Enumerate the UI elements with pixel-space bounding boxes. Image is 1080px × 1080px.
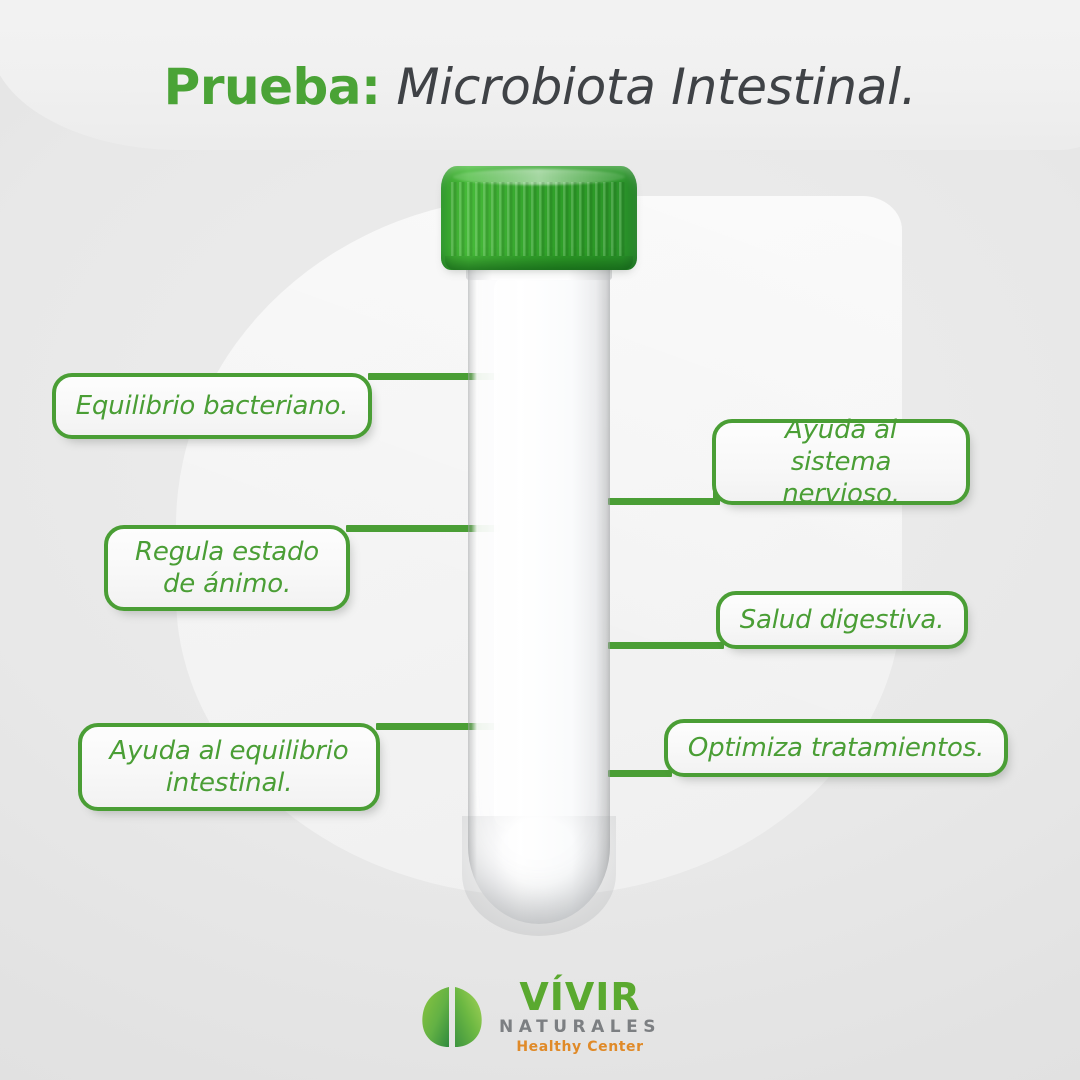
leaf-logo-icon [419,981,485,1051]
infographic-poster: Prueba: Microbiota Intestinal. Equilibri… [0,0,1080,1080]
callout-equilibrio-bacteriano: Equilibrio bacteriano. [52,373,372,439]
logo-brand-name: VÍVIR [519,978,640,1016]
logo-subbrand: NATURALES [499,1019,661,1036]
page-title: Prueba: Microbiota Intestinal. [0,60,1080,115]
cap-ribbing [451,182,627,256]
callout-ayuda-equilibrio-intestinal: Ayuda al equilibrio intestinal. [78,723,380,811]
callout-label: Regula estado de ánimo. [126,536,328,600]
callout-ayuda-sistema-nervioso: Ayuda al sistema nervioso. [712,419,970,505]
logo-wordmark: VÍVIR NATURALES Healthy Center [499,978,661,1054]
callout-optimiza-tratamientos: Optimiza tratamientos. [664,719,1008,777]
callout-label: Salud digestiva. [740,604,944,636]
callout-label: Ayuda al sistema nervioso. [734,414,948,511]
tube-base-shadow [462,816,616,936]
logo-tagline: Healthy Center [516,1040,643,1054]
test-tube-illustration [436,166,642,936]
callout-label: Optimiza tratamientos. [688,732,984,764]
callout-regula-estado-animo: Regula estado de ánimo. [104,525,350,611]
callout-salud-digestiva: Salud digestiva. [716,591,968,649]
callout-label: Ayuda al equilibrio intestinal. [100,735,358,799]
cap-lip [445,256,633,270]
title-strong: Prueba: [164,58,381,116]
title-emphasis: Microbiota Intestinal. [396,58,916,116]
brand-logo: VÍVIR NATURALES Healthy Center [0,978,1080,1054]
tube-cap-icon [441,166,637,270]
callout-label: Equilibrio bacteriano. [76,390,349,422]
